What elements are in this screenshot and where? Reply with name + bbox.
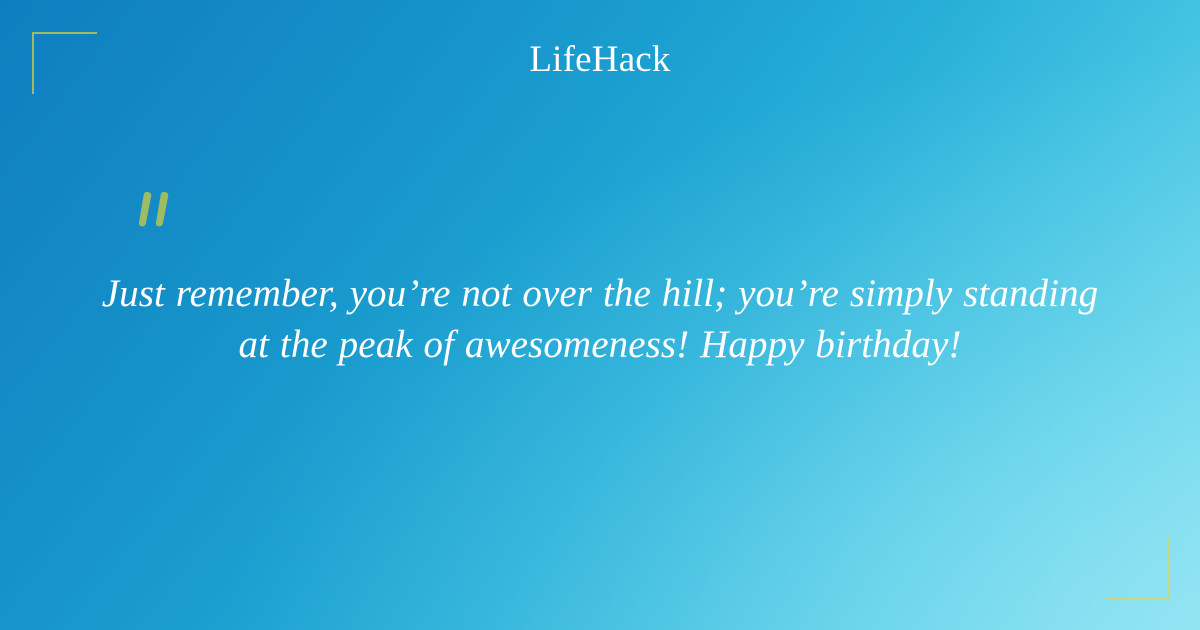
quote-text: Just remember, you’re not over the hill;… — [100, 268, 1100, 370]
lifehack-logo: LifeHack — [0, 40, 1200, 80]
corner-bracket-bottom-right-icon — [1106, 537, 1169, 599]
double-quote-mark-icon — [132, 190, 192, 242]
quote-card: LifeHack Just remember, you’re not over … — [0, 0, 1200, 630]
